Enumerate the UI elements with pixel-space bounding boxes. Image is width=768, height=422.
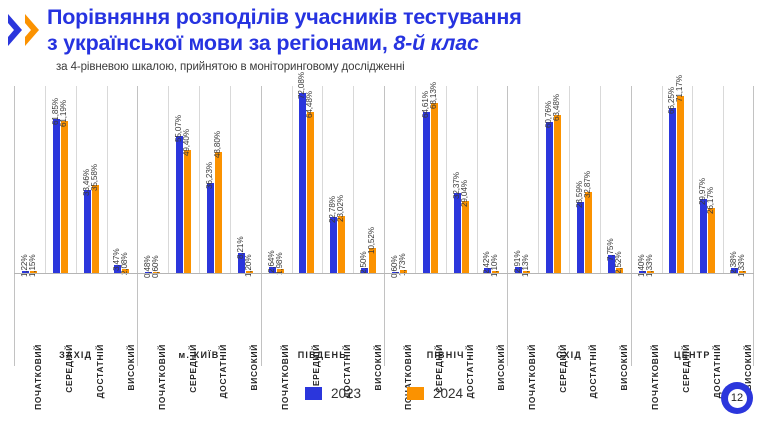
title-line-1: Порівняння розподілів учасників тестуван… (47, 4, 707, 30)
bar-м. КИЇВ-ДОСТАТНІЙ-2024[interactable] (215, 152, 222, 274)
axis-group-separator (384, 274, 385, 366)
chart-gridline (107, 86, 108, 274)
bar-value-label: 2,52% (614, 251, 623, 273)
bar-value-label: 63,48% (552, 94, 561, 121)
axis-group-separator (631, 274, 632, 366)
bar-СХІД-СЕРЕДНІЙ-2024[interactable] (554, 115, 561, 274)
chart-group-separator (753, 86, 754, 274)
chart-group-separator (384, 86, 385, 274)
bar-value-label: 36,23% (205, 162, 214, 189)
axis-region-label: ЗАХІД (59, 350, 92, 360)
bar-ЗАХІД-ДОСТАТНІЙ-2024[interactable] (92, 185, 99, 274)
axis-category-label: ВИСОКИЙ (249, 344, 259, 390)
bar-value-label: 61,19% (59, 100, 68, 127)
chart-gridline (76, 86, 77, 274)
bar-ЦЕНТР-СЕРЕДНІЙ-2024[interactable] (677, 96, 684, 274)
axis-region-label: м. КИЇВ (178, 350, 219, 360)
bar-ПІВДЕНЬ-СЕРЕДНІЙ-2024[interactable] (307, 112, 314, 274)
legend-swatch-2023 (305, 387, 322, 400)
axis-category-label: ВИСОКИЙ (619, 344, 629, 390)
bar-ПІВДЕНЬ-ДОСТАТНІЙ-2023[interactable] (330, 217, 337, 274)
chart-x-axis: ПОЧАТКОВИЙСЕРЕДНІЙДОСТАТНІЙВИСОКИЙЗАХІДП… (14, 274, 754, 356)
legend-item-2023[interactable]: 2023 (305, 386, 361, 401)
chart-gridline (662, 86, 663, 274)
axis-group-separator (137, 274, 138, 366)
chart-gridline (569, 86, 570, 274)
axis-group-separator (261, 274, 262, 366)
bar-ПІВНІЧ-СЕРЕДНІЙ-2024[interactable] (431, 103, 438, 274)
chart-gridline (199, 86, 200, 274)
axis-category-label: ВИСОКИЙ (496, 344, 506, 390)
chart-gridline (538, 86, 539, 274)
bar-СХІД-СЕРЕДНІЙ-2023[interactable] (546, 122, 553, 274)
chart-group-separator (631, 86, 632, 274)
bar-ПІВНІЧ-СЕРЕДНІЙ-2023[interactable] (423, 112, 430, 274)
chart-gridline (353, 86, 354, 274)
bar-value-label: 35,58% (90, 164, 99, 191)
bar-ЦЕНТР-СЕРЕДНІЙ-2023[interactable] (669, 108, 676, 274)
chart-group-separator (261, 86, 262, 274)
chart-gridline (168, 86, 169, 274)
title-line-2-plain: з української мови за регіонами, (47, 31, 393, 55)
bar-value-label: 29,04% (460, 180, 469, 207)
axis-region-label: СХІД (556, 350, 582, 360)
chart-gridline (230, 86, 231, 274)
chart-gridline (415, 86, 416, 274)
chart-group-separator (137, 86, 138, 274)
chart-group-separator (14, 86, 15, 274)
title-line-2-italic: 8-й клас (393, 31, 478, 55)
bar-value-label: 2,08% (120, 252, 129, 274)
axis-region-label: ЦЕНТР (674, 350, 711, 360)
legend-swatch-2024 (407, 387, 424, 400)
chart-plot-area: 1,22%1,15%61,85%61,19%33,46%35,58%3,47%2… (14, 86, 754, 274)
bar-ЗАХІД-СЕРЕДНІЙ-2023[interactable] (53, 119, 60, 274)
bar-value-label: 32,87% (583, 171, 592, 198)
double-chevron-icon (6, 10, 44, 50)
bar-СХІД-ДОСТАТНІЙ-2023[interactable] (577, 202, 584, 274)
chart-gridline (446, 86, 447, 274)
slide: Порівняння розподілів учасників тестуван… (0, 0, 768, 422)
chart-legend: 20232024 (0, 386, 768, 401)
bar-value-label: 1,98% (275, 253, 284, 275)
axis-region-label: ПІВДЕНЬ (298, 350, 347, 360)
chart-gridline (692, 86, 693, 274)
axis-group-separator (753, 274, 754, 366)
chart-gridline (723, 86, 724, 274)
axis-category-label: ВИСОКИЙ (373, 344, 383, 390)
bar-value-label: 23,02% (336, 195, 345, 222)
legend-label: 2023 (331, 386, 361, 401)
bar-м. КИЇВ-СЕРЕДНІЙ-2023[interactable] (176, 136, 183, 274)
axis-category-label: ВИСОКИЙ (126, 344, 136, 390)
title-line-2: з української мови за регіонами, 8-й кла… (47, 30, 707, 56)
chart-gridline (477, 86, 478, 274)
bar-ПІВНІЧ-ДОСТАТНІЙ-2024[interactable] (462, 201, 469, 274)
chart-gridline (322, 86, 323, 274)
bar-value-label: 68,13% (429, 82, 438, 109)
axis-region-label: ПІВНІЧ (427, 350, 465, 360)
chart-group-separator (507, 86, 508, 274)
chart-gridline (600, 86, 601, 274)
legend-label: 2024 (433, 386, 463, 401)
page-subtitle: за 4-рівневою шкалою, прийнятою в моніто… (56, 61, 405, 73)
bar-value-label: 49,40% (182, 129, 191, 156)
page-number-badge: 12 (721, 382, 753, 414)
legend-item-2024[interactable]: 2024 (407, 386, 463, 401)
bar-м. КИЇВ-СЕРЕДНІЙ-2024[interactable] (184, 150, 191, 274)
bar-value-label: 2,50% (359, 251, 368, 273)
bar-ПІВДЕНЬ-СЕРЕДНІЙ-2023[interactable] (299, 93, 306, 274)
page-number-value: 12 (728, 389, 747, 408)
bar-value-label: 26,17% (706, 188, 715, 215)
bar-value-label: 48,80% (213, 131, 222, 158)
bar-ЗАХІД-СЕРЕДНІЙ-2024[interactable] (61, 121, 68, 274)
bar-ПІВДЕНЬ-ДОСТАТНІЙ-2024[interactable] (338, 216, 345, 274)
bar-value-label: 10,52% (367, 227, 376, 254)
chart-gridline (45, 86, 46, 274)
axis-group-separator (507, 274, 508, 366)
bar-value-label: 71,17% (675, 75, 684, 102)
bar-value-label: 64,48% (305, 92, 314, 119)
bar-СХІД-ДОСТАТНІЙ-2024[interactable] (585, 192, 592, 274)
bar-м. КИЇВ-ДОСТАТНІЙ-2023[interactable] (207, 183, 214, 274)
page-title: Порівняння розподілів учасників тестуван… (47, 4, 707, 56)
bar-ЗАХІД-ДОСТАТНІЙ-2023[interactable] (84, 190, 91, 274)
bar-ЦЕНТР-ДОСТАТНІЙ-2024[interactable] (708, 208, 715, 274)
chart-gridline (292, 86, 293, 274)
axis-group-separator (14, 274, 15, 366)
